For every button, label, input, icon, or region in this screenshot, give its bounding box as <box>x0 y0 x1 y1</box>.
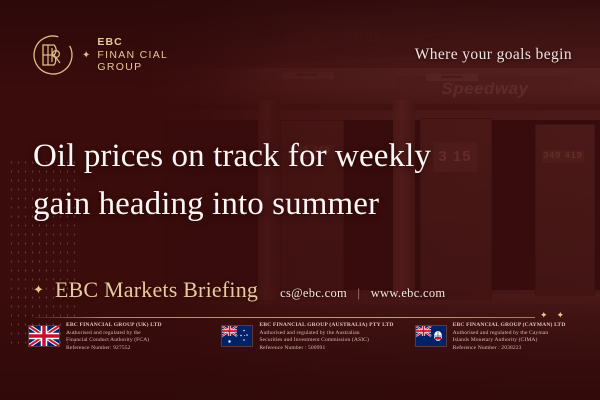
entity-name: EBC FINANCIAL GROUP (CAYMAN) LTD <box>453 322 566 330</box>
brand-name-line-1: EBC <box>97 36 168 49</box>
entity-reference: Reference Number : 500991 <box>259 345 393 353</box>
entity-reference: Reference Number : 2038223 <box>453 345 566 353</box>
entity-line-3: Securities and Investment Commission (AS… <box>259 337 393 345</box>
page-title: Oil prices on track for weekly gain head… <box>33 132 553 228</box>
brand-wordmark: EBC FINAN CIAL GROUP <box>97 36 168 74</box>
banner-content: ✦ EBC FINAN CIAL GROUP Where your goals … <box>0 0 600 400</box>
flag-cayman-islands-icon <box>415 325 447 347</box>
flag-united-kingdom-icon <box>28 325 60 347</box>
regulatory-entity-cayman: EBC FINANCIAL GROUP (CAYMAN) LTD Authori… <box>407 322 600 400</box>
marketing-banner: Speedway Speedway 343 469 439 3 15 349 4… <box>0 0 600 400</box>
brand-logo[interactable]: ✦ EBC FINAN CIAL GROUP <box>31 33 168 77</box>
entity-line-3: Islands Monetary Authority (CIMA) <box>453 337 566 345</box>
regulatory-footer: EBC FINANCIAL GROUP (UK) LTD Authorised … <box>0 314 600 400</box>
headline-line-1: Oil prices on track for weekly <box>33 132 553 180</box>
headline-line-2: gain heading into summer <box>33 180 553 228</box>
ebc-monogram-icon <box>31 33 75 77</box>
four-point-star-icon: ✦ <box>33 283 44 296</box>
brand-name-line-3: GROUP <box>97 61 168 74</box>
brand-name-line-2: FINAN CIAL <box>97 49 168 62</box>
contact-info: cs@ebc.com | www.ebc.com <box>280 286 445 301</box>
regulatory-text-australia: EBC FINANCIAL GROUP (AUSTRALIA) PTY LTD … <box>259 322 393 352</box>
regulatory-text-cayman: EBC FINANCIAL GROUP (CAYMAN) LTD Authori… <box>453 322 566 352</box>
entity-line-3: Financial Conduct Authority (FCA) <box>66 337 162 345</box>
entity-name: EBC FINANCIAL GROUP (UK) LTD <box>66 322 162 330</box>
contact-email[interactable]: cs@ebc.com <box>280 286 347 300</box>
contact-separator: | <box>357 286 360 300</box>
briefing-label: EBC Markets Briefing <box>55 277 258 303</box>
regulatory-text-uk: EBC FINANCIAL GROUP (UK) LTD Authorised … <box>66 322 162 352</box>
entity-reference: Reference Number: 927552 <box>66 345 162 353</box>
flag-australia-icon <box>221 325 253 347</box>
contact-website[interactable]: www.ebc.com <box>371 286 446 300</box>
regulatory-entity-uk: EBC FINANCIAL GROUP (UK) LTD Authorised … <box>0 322 213 400</box>
brand-tagline: Where your goals begin <box>415 46 572 64</box>
entity-name: EBC FINANCIAL GROUP (AUSTRALIA) PTY LTD <box>259 322 393 330</box>
four-point-star-icon: ✦ <box>82 51 90 61</box>
briefing-row: ✦ EBC Markets Briefing cs@ebc.com | www.… <box>33 277 445 303</box>
regulatory-entity-australia: EBC FINANCIAL GROUP (AUSTRALIA) PTY LTD … <box>213 322 406 400</box>
